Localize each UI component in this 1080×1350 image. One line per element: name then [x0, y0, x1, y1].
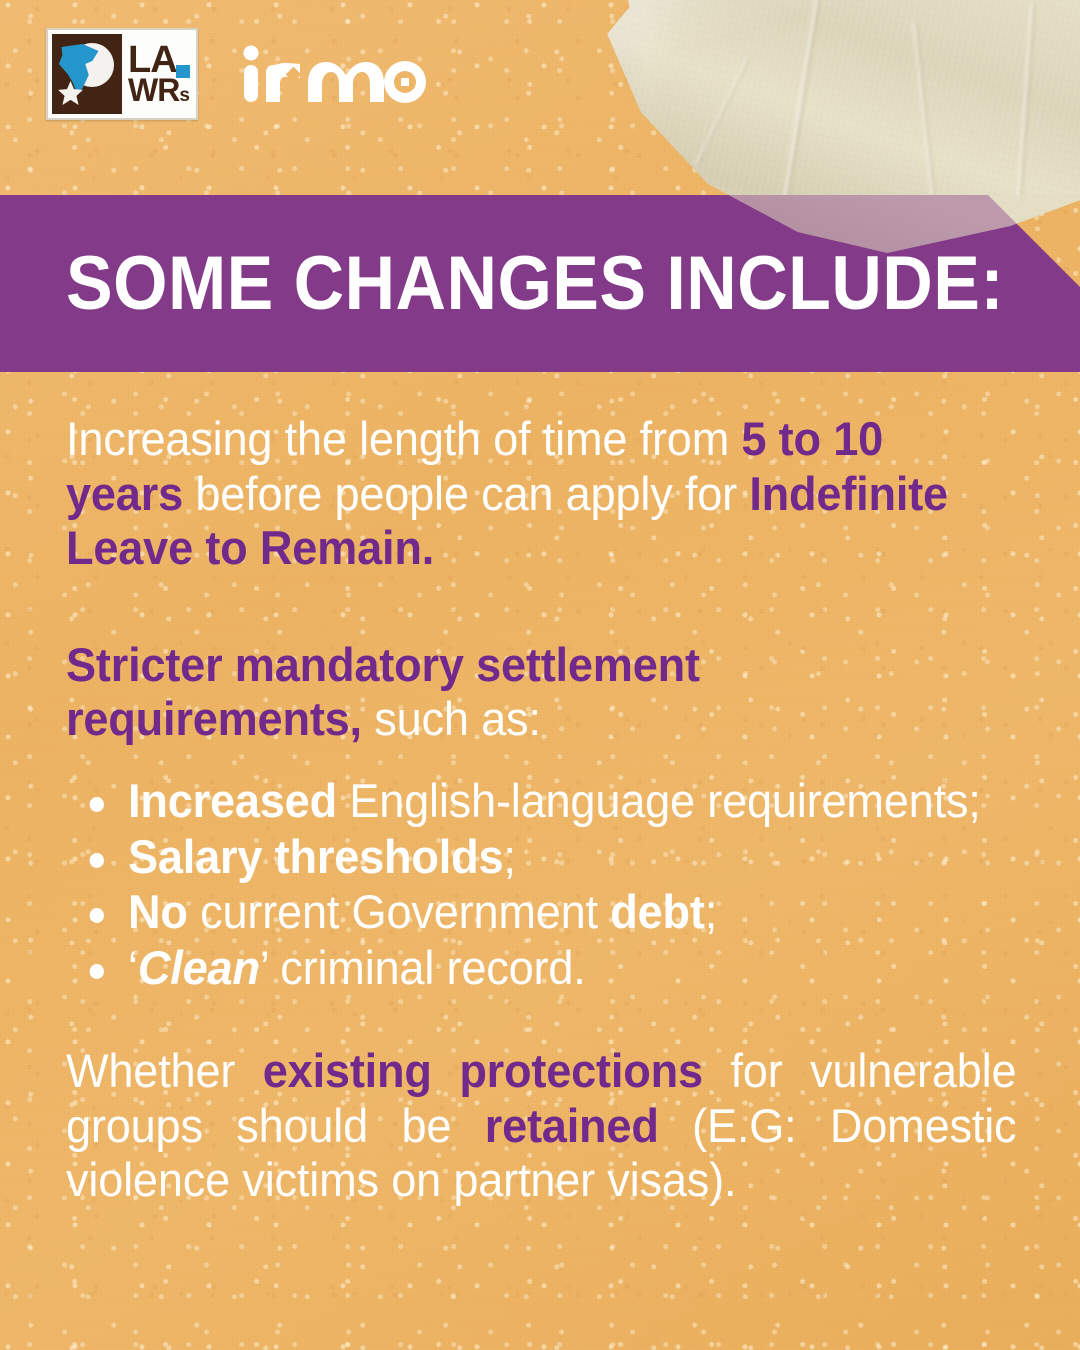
paragraph-ilr-extension: Increasing the length of time from 5 to … — [66, 412, 978, 576]
tape-crease — [693, 57, 751, 167]
bullet-3-bold-2: debt — [610, 885, 704, 938]
list-item: ‘Clean’ criminal record. — [128, 940, 980, 996]
tape-crease — [781, 0, 824, 201]
section-header-banner: SOME CHANGES INCLUDE: — [0, 195, 1080, 372]
lawrs-wordmark-line2: WRs — [128, 77, 192, 105]
lawrs-logo: LA WRs — [46, 28, 198, 120]
paragraph-settlement-requirements: Stricter mandatory settlement requiremen… — [66, 638, 738, 747]
para3-highlight-existing-protections: existing protections — [263, 1044, 703, 1097]
lawrs-s-text: s — [179, 85, 189, 106]
bullet-4-quote-close: ’ — [260, 941, 268, 994]
bullet-3-rest: ; — [705, 885, 717, 938]
page-title: SOME CHANGES INCLUDE: — [66, 246, 1004, 322]
para1-segment-1: Increasing the length of time from — [66, 412, 741, 465]
logo-bar: LA WRs — [46, 28, 426, 120]
bullet-1-bold: Increased — [128, 774, 337, 827]
bullet-3-mid: current Government — [188, 885, 610, 938]
list-item: Increased English-language requirements; — [128, 773, 980, 829]
bullet-4-rest: criminal record. — [268, 941, 586, 994]
para3-highlight-retained: retained — [485, 1099, 659, 1152]
paragraph-existing-protections: Whether existing protections for vulnera… — [66, 1044, 1016, 1208]
bullet-3-bold: No — [128, 885, 188, 938]
bullet-4-italic-clean: Clean — [138, 941, 260, 994]
lawrs-emblem-icon — [52, 34, 122, 114]
lawrs-wordmark: LA WRs — [122, 34, 192, 114]
requirements-bullet-list: Increased English-language requirements;… — [66, 773, 1016, 997]
poster-canvas: LA WRs — [0, 0, 1080, 1350]
lawrs-blue-tick-icon — [176, 65, 190, 78]
irmo-logo — [242, 43, 426, 105]
tape-crease — [1015, 4, 1037, 202]
para1-segment-2: before people can apply for — [183, 467, 749, 520]
bullet-1-rest: English-language requirements; — [337, 774, 981, 827]
para3-segment-1: Whether — [66, 1044, 263, 1097]
bullet-4-quote-open: ‘ — [128, 941, 138, 994]
list-item: No current Government debt; — [128, 884, 980, 940]
bullet-2-rest: ; — [503, 830, 515, 883]
body-content: Increasing the length of time from 5 to … — [66, 412, 1016, 1208]
tape-crease — [911, 22, 937, 208]
list-item: Salary thresholds; — [128, 829, 980, 885]
lawrs-wr-text: WR — [128, 72, 179, 108]
para2-tail-such-as: such as: — [362, 692, 541, 745]
bullet-2-bold: Salary thresholds — [128, 830, 503, 883]
